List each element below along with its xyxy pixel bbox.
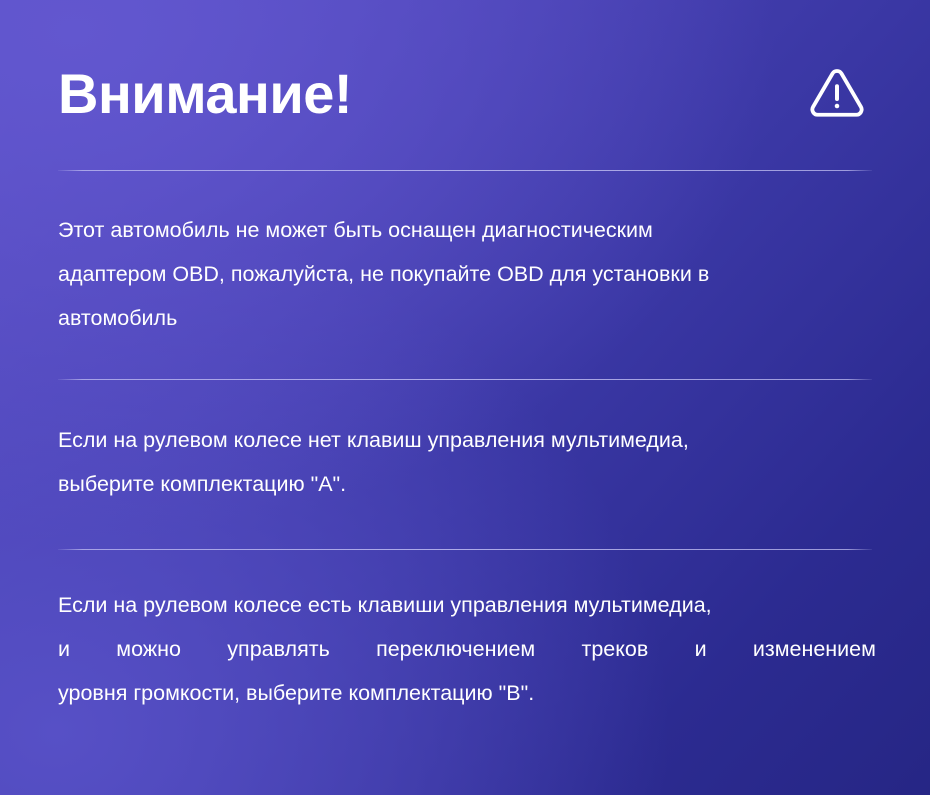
warning-screen: Внимание! Этот автомобиль не может быть … xyxy=(0,0,930,795)
notice-trim-a: Если на рулевом колесе нет клавиш управл… xyxy=(58,418,876,506)
notice-word: изменением xyxy=(753,627,876,671)
notice-word: треков xyxy=(581,627,648,671)
header: Внимание! xyxy=(58,48,872,140)
notice-obd-not-supported: Этот автомобиль не может быть оснащен ди… xyxy=(58,208,876,340)
warning-triangle-icon xyxy=(808,65,872,123)
notice-line: выберите комплектацию "A". xyxy=(58,462,876,506)
notice-word: управлять xyxy=(227,627,329,671)
divider-3 xyxy=(58,549,872,550)
notice-line: адаптером OBD, пожалуйста, не покупайте … xyxy=(58,252,876,296)
divider-1 xyxy=(58,170,872,171)
notice-line: Если на рулевом колесе нет клавиш управл… xyxy=(58,418,876,462)
notice-word: и xyxy=(695,627,707,671)
divider-2 xyxy=(58,379,872,380)
notice-line: автомобиль xyxy=(58,296,876,340)
notice-line: уровня громкости, выберите комплектацию … xyxy=(58,671,876,715)
notice-line-justified: и можно управлять переключением треков и… xyxy=(58,627,876,671)
notice-line: Если на рулевом колесе есть клавиши упра… xyxy=(58,583,876,627)
notice-word: и xyxy=(58,627,70,671)
notice-word: можно xyxy=(116,627,181,671)
notice-line: Этот автомобиль не может быть оснащен ди… xyxy=(58,208,876,252)
page-title: Внимание! xyxy=(58,66,352,122)
notice-trim-b: Если на рулевом колесе есть клавиши упра… xyxy=(58,583,876,715)
notice-word: переключением xyxy=(376,627,535,671)
